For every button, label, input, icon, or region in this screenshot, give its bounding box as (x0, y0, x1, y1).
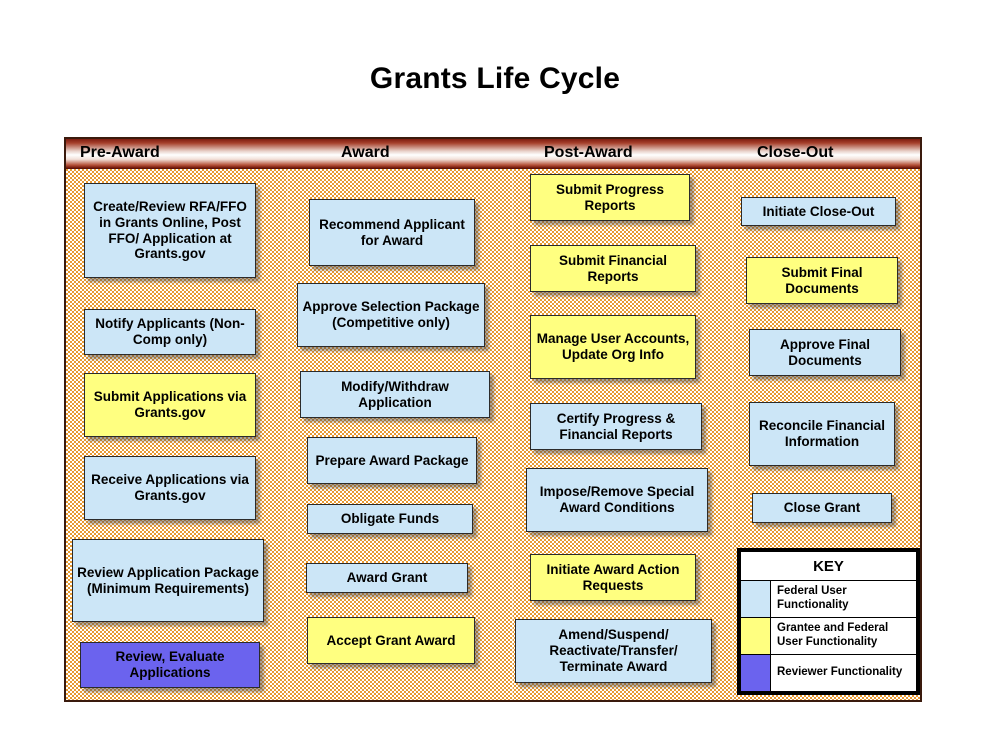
key-label-reviewer: Reviewer Functionality (771, 655, 916, 691)
column-header-pre-award: Pre-Award (80, 144, 160, 162)
step-box-review-evaluate-applications[interactable]: Review, Evaluate Applications (80, 642, 260, 688)
step-label: Obligate Funds (312, 511, 468, 527)
step-box-obligate-funds[interactable]: Obligate Funds (307, 504, 473, 534)
step-box-amend-suspend-reactivate-transfer-terminate-award[interactable]: Amend/Suspend/ Reactivate/Transfer/ Term… (515, 619, 712, 683)
step-label: Recommend Applicant for Award (314, 217, 470, 249)
step-box-create-review-rfa-ffo[interactable]: Create/Review RFA/FFO in Grants Online, … (84, 183, 256, 278)
step-label: Review Application Package (Minimum Requ… (77, 565, 259, 597)
step-label: Approve Final Documents (754, 337, 896, 369)
step-label: Prepare Award Package (312, 453, 472, 469)
step-label: Submit Progress Reports (535, 182, 685, 214)
column-header-post-award: Post-Award (544, 144, 633, 162)
step-box-notify-applicants[interactable]: Notify Applicants (Non-Comp only) (84, 309, 256, 355)
slide-canvas: Grants Life Cycle Pre-Award Award Post-A… (0, 0, 990, 743)
column-divider-3 (732, 170, 733, 700)
step-box-modify-withdraw-application[interactable]: Modify/Withdraw Application (300, 371, 490, 418)
step-label: Submit Applications via Grants.gov (89, 389, 251, 421)
step-label: Close Grant (757, 500, 887, 516)
step-label: Award Grant (311, 570, 463, 586)
key-swatch-grantee (741, 618, 771, 654)
step-label: Receive Applications via Grants.gov (89, 472, 251, 504)
phase-header-band: Pre-Award Award Post-Award Close-Out (66, 139, 920, 169)
key-swatch-federal (741, 581, 771, 617)
step-box-submit-applications-grantsgov[interactable]: Submit Applications via Grants.gov (84, 373, 256, 437)
step-label: Create/Review RFA/FFO in Grants Online, … (89, 199, 251, 263)
step-label: Submit Final Documents (751, 265, 893, 297)
key-label-federal: Federal User Functionality (771, 581, 916, 617)
step-box-initiate-award-action-requests[interactable]: Initiate Award Action Requests (530, 554, 696, 601)
step-box-receive-applications-grantsgov[interactable]: Receive Applications via Grants.gov (84, 456, 256, 520)
step-box-manage-user-accounts[interactable]: Manage User Accounts, Update Org Info (530, 315, 696, 379)
step-box-impose-remove-special-award-conditions[interactable]: Impose/Remove Special Award Conditions (526, 468, 708, 532)
step-box-certify-progress-financial-reports[interactable]: Certify Progress & Financial Reports (530, 403, 702, 450)
step-label: Certify Progress & Financial Reports (535, 411, 697, 443)
key-legend: KEY Federal User Functionality Grantee a… (737, 548, 920, 695)
step-box-prepare-award-package[interactable]: Prepare Award Package (307, 437, 477, 484)
key-swatch-reviewer (741, 655, 771, 691)
step-box-approve-final-documents[interactable]: Approve Final Documents (749, 329, 901, 376)
step-label: Notify Applicants (Non-Comp only) (89, 316, 251, 348)
key-title: KEY (741, 552, 916, 581)
step-label: Accept Grant Award (312, 633, 470, 649)
key-row-reviewer: Reviewer Functionality (741, 655, 916, 691)
step-label: Review, Evaluate Applications (85, 649, 255, 681)
step-box-review-application-package[interactable]: Review Application Package (Minimum Requ… (72, 539, 264, 622)
step-box-recommend-applicant-for-award[interactable]: Recommend Applicant for Award (309, 199, 475, 266)
grants-life-cycle-diagram: Pre-Award Award Post-Award Close-Out Cre… (64, 137, 922, 702)
step-box-accept-grant-award[interactable]: Accept Grant Award (307, 617, 475, 664)
column-header-close-out: Close-Out (757, 144, 833, 162)
key-label-grantee: Grantee and Federal User Functionality (771, 618, 916, 654)
step-label: Reconcile Financial Information (754, 418, 890, 450)
step-box-submit-progress-reports[interactable]: Submit Progress Reports (530, 174, 690, 221)
column-header-award: Award (341, 144, 390, 162)
step-box-initiate-close-out[interactable]: Initiate Close-Out (741, 197, 896, 226)
key-row-grantee: Grantee and Federal User Functionality (741, 618, 916, 655)
column-divider-2 (512, 170, 513, 700)
step-label: Approve Selection Package (Competitive o… (302, 299, 480, 331)
step-label: Initiate Close-Out (746, 204, 891, 220)
step-box-award-grant[interactable]: Award Grant (306, 563, 468, 593)
key-row-federal: Federal User Functionality (741, 581, 916, 618)
step-label: Submit Financial Reports (535, 253, 691, 285)
step-label: Modify/Withdraw Application (305, 379, 485, 411)
page-title: Grants Life Cycle (0, 62, 990, 96)
step-label: Initiate Award Action Requests (535, 562, 691, 594)
step-label: Amend/Suspend/ Reactivate/Transfer/ Term… (520, 627, 707, 675)
column-divider-1 (287, 170, 288, 700)
step-label: Manage User Accounts, Update Org Info (535, 331, 691, 363)
step-box-submit-financial-reports[interactable]: Submit Financial Reports (530, 245, 696, 292)
step-box-approve-selection-package[interactable]: Approve Selection Package (Competitive o… (297, 283, 485, 347)
step-box-submit-final-documents[interactable]: Submit Final Documents (746, 257, 898, 304)
step-box-reconcile-financial-information[interactable]: Reconcile Financial Information (749, 402, 895, 466)
step-box-close-grant[interactable]: Close Grant (752, 493, 892, 523)
step-label: Impose/Remove Special Award Conditions (531, 484, 703, 516)
